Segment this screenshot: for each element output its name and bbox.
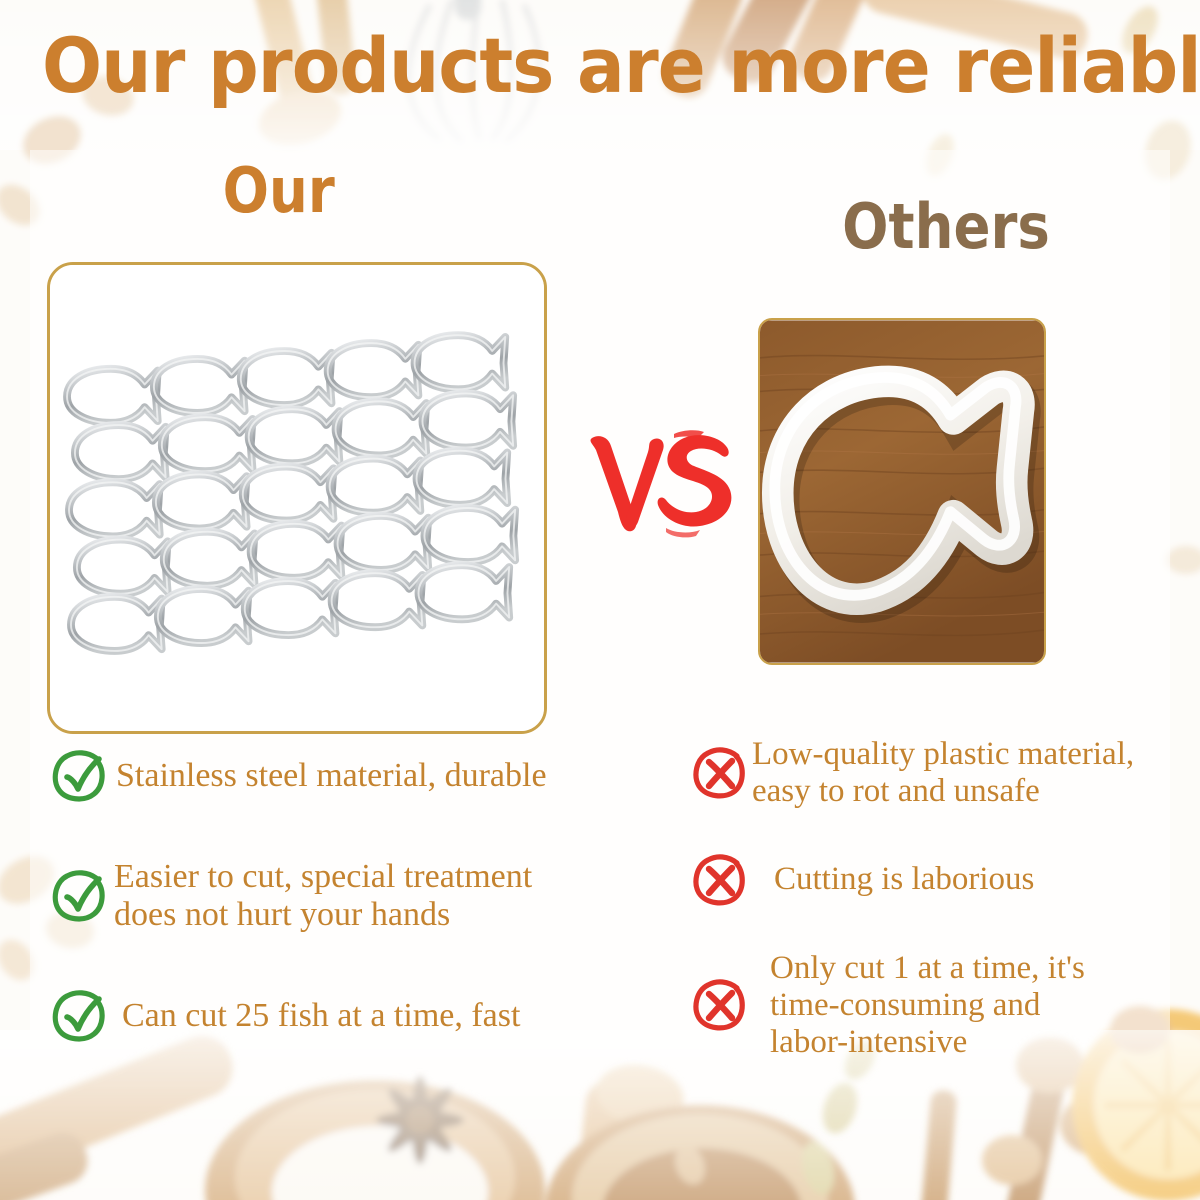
column-header-ours: Our	[223, 160, 335, 222]
cross-circle-icon	[692, 852, 748, 908]
column-header-others: Others	[842, 196, 1050, 258]
page-title: Our products are more reliable	[42, 28, 1158, 104]
ours-benefit-list: Stainless steel material, durable Easier…	[52, 742, 692, 1098]
list-item-label: Easier to cut, special treatment does no…	[114, 858, 532, 934]
list-item-label: Cutting is laborious	[774, 861, 1034, 898]
list-item-label: Stainless steel material, durable	[116, 757, 547, 795]
cross-circle-icon	[692, 745, 748, 801]
others-drawback-list: Low-quality plastic material, easy to ro…	[692, 736, 1200, 1101]
list-item: Can cut 25 fish at a time, fast	[52, 986, 692, 1046]
list-item-label: Only cut 1 at a time, it's time-consumin…	[770, 950, 1085, 1061]
list-item: Stainless steel material, durable	[52, 746, 692, 806]
list-item: Low-quality plastic material, easy to ro…	[692, 736, 1200, 810]
list-item: Only cut 1 at a time, it's time-consumin…	[692, 950, 1200, 1061]
vs-badge	[578, 424, 744, 544]
check-circle-icon	[52, 988, 108, 1044]
product-image-others	[758, 318, 1046, 665]
list-item-label: Can cut 25 fish at a time, fast	[122, 997, 520, 1035]
check-circle-icon	[52, 868, 108, 924]
list-item-label: Low-quality plastic material, easy to ro…	[752, 736, 1134, 810]
check-circle-icon	[52, 748, 108, 804]
cross-circle-icon	[692, 977, 748, 1033]
list-item: Cutting is laborious	[692, 850, 1200, 910]
list-item: Easier to cut, special treatment does no…	[52, 858, 692, 934]
product-image-ours	[47, 262, 547, 734]
